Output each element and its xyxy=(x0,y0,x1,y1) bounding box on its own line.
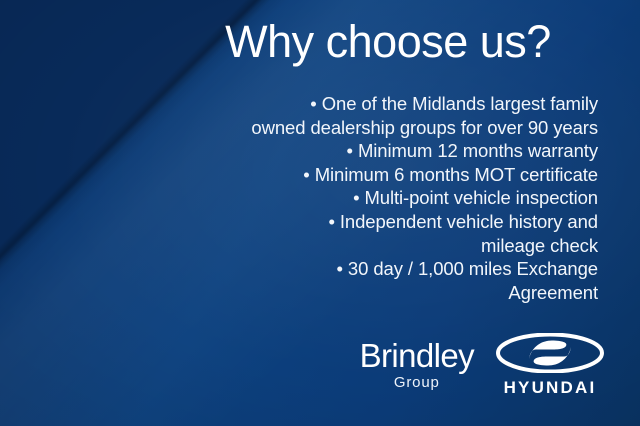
benefits-list: • One of the Midlands largest family own… xyxy=(198,92,598,304)
page-title: Why choose us? xyxy=(178,18,598,67)
list-item: mileage check xyxy=(198,234,598,258)
logo-row: Brindley Group HYUNDAI xyxy=(360,333,604,398)
list-item: • Minimum 6 months MOT certificate xyxy=(198,163,598,187)
list-item: • One of the Midlands largest family xyxy=(198,92,598,116)
content-area: Why choose us? • One of the Midlands lar… xyxy=(0,0,640,426)
hyundai-wordmark: HYUNDAI xyxy=(504,378,597,398)
list-item: owned dealership groups for over 90 year… xyxy=(198,116,598,140)
list-item: • Independent vehicle history and xyxy=(198,210,598,234)
hyundai-logo: HYUNDAI xyxy=(496,333,604,398)
list-item: • Multi-point vehicle inspection xyxy=(198,186,598,210)
brindley-group-logo: Brindley Group xyxy=(360,339,474,392)
list-item: • Minimum 12 months warranty xyxy=(198,139,598,163)
brindley-wordmark: Brindley xyxy=(360,339,474,372)
list-item: • 30 day / 1,000 miles Exchange xyxy=(198,257,598,281)
list-item: Agreement xyxy=(198,281,598,305)
brindley-group-subtext: Group xyxy=(360,375,474,390)
promotional-banner: Why choose us? • One of the Midlands lar… xyxy=(0,0,640,426)
hyundai-oval-h-icon xyxy=(496,333,604,373)
